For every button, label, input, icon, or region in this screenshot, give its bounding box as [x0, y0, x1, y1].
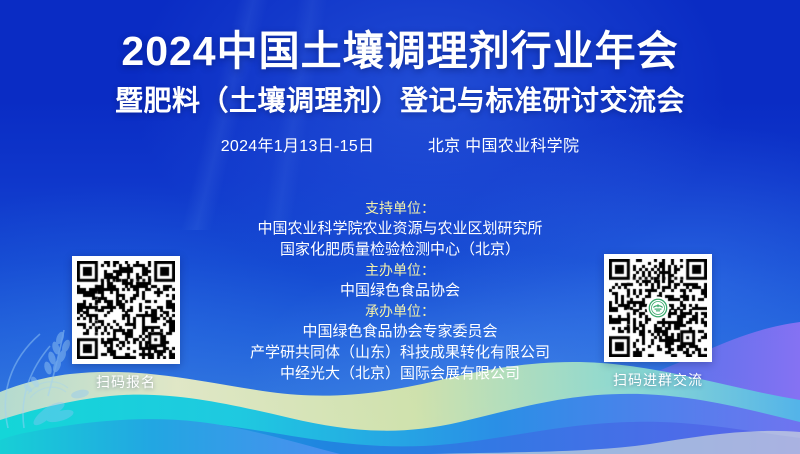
- conference-poster: 2024中国土壤调理剂行业年会 暨肥料（土壤调理剂）登记与标准研讨交流会 202…: [0, 0, 800, 454]
- qr-code-register[interactable]: [77, 261, 175, 359]
- event-meta: 2024年1月13日-15日 北京 中国农业科学院: [0, 136, 800, 158]
- qr-block-register[interactable]: 扫码报名: [72, 256, 180, 391]
- qr-block-group-chat[interactable]: 扫码进群交流: [604, 254, 712, 389]
- organisation-group: 支持单位： 中国农业科学院农业资源与农业区划研究所 国家化肥质量检验检测中心（北…: [0, 198, 800, 260]
- poster-header: 2024中国土壤调理剂行业年会 暨肥料（土壤调理剂）登记与标准研讨交流会 202…: [0, 26, 800, 158]
- qr-caption-group-chat: 扫码进群交流: [604, 371, 712, 389]
- qr-frame[interactable]: [72, 256, 180, 364]
- qr-frame[interactable]: [604, 254, 712, 362]
- poster-title: 2024中国土壤调理剂行业年会: [0, 26, 800, 76]
- event-date: 2024年1月13日-15日: [221, 138, 375, 155]
- poster-subtitle: 暨肥料（土壤调理剂）登记与标准研讨交流会: [0, 82, 800, 120]
- organisation-line: 中国农业科学院农业资源与农业区划研究所: [0, 218, 800, 239]
- green-food-association-logo-icon: [647, 297, 670, 320]
- qr-caption-register: 扫码报名: [72, 373, 180, 391]
- organisation-label: 支持单位：: [0, 198, 800, 218]
- event-location: 北京 中国农业科学院: [428, 138, 579, 155]
